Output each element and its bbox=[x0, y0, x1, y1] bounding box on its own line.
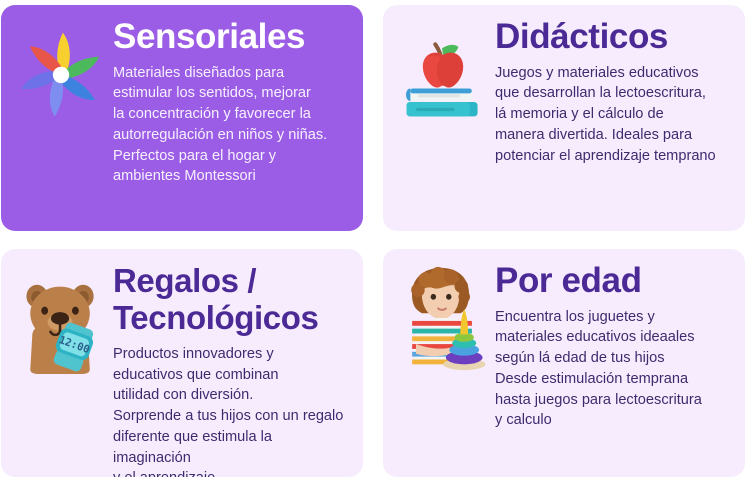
apple-on-books-icon-container bbox=[391, 19, 495, 125]
pinwheel-icon-container bbox=[9, 19, 113, 121]
card-title-sensoriales: Sensoriales bbox=[113, 19, 349, 56]
regalos-text-column: Regalos / Tecnológicos Productos innovad… bbox=[113, 263, 353, 477]
pinwheel-icon bbox=[13, 25, 109, 121]
bear-with-smartwatch-icon-container: 12:00 bbox=[9, 263, 113, 377]
por-edad-text-column: Por edad Encuentra los juguetes y materi… bbox=[495, 263, 735, 431]
card-title-por-edad: Por edad bbox=[495, 263, 731, 300]
didacticos-text-column: Didácticos Juegos y materiales educativo… bbox=[495, 19, 735, 166]
category-card-sensoriales[interactable]: Sensoriales Materiales diseñados para es… bbox=[1, 5, 363, 231]
child-with-stacking-rings-photo bbox=[391, 265, 495, 373]
card-title-regalos-tecnologicos: Regalos / Tecnológicos bbox=[113, 263, 349, 337]
card-body-regalos-tecnologicos: Productos innovadores y educativos que c… bbox=[113, 344, 349, 477]
card-body-por-edad: Encuentra los juguetes y materiales educ… bbox=[495, 307, 731, 431]
category-card-por-edad[interactable]: Por edad Encuentra los juguetes y materi… bbox=[383, 249, 745, 477]
category-card-didacticos[interactable]: Didácticos Juegos y materiales educativo… bbox=[383, 5, 745, 231]
card-body-sensoriales: Materiales diseñados para estimular los … bbox=[113, 63, 349, 187]
bear-with-smartwatch-icon: 12:00 bbox=[13, 277, 109, 377]
category-card-grid: Sensoriales Materiales diseñados para es… bbox=[0, 0, 750, 500]
card-title-didacticos: Didácticos bbox=[495, 19, 731, 56]
apple-on-books-icon bbox=[395, 29, 491, 125]
category-card-regalos-tecnologicos[interactable]: 12:00 Regalos / Tecnológicos Productos i… bbox=[1, 249, 363, 477]
card-body-didacticos: Juegos y materiales educativos que desar… bbox=[495, 63, 731, 167]
child-photo-container bbox=[391, 263, 495, 373]
sensoriales-text-column: Sensoriales Materiales diseñados para es… bbox=[113, 19, 353, 187]
